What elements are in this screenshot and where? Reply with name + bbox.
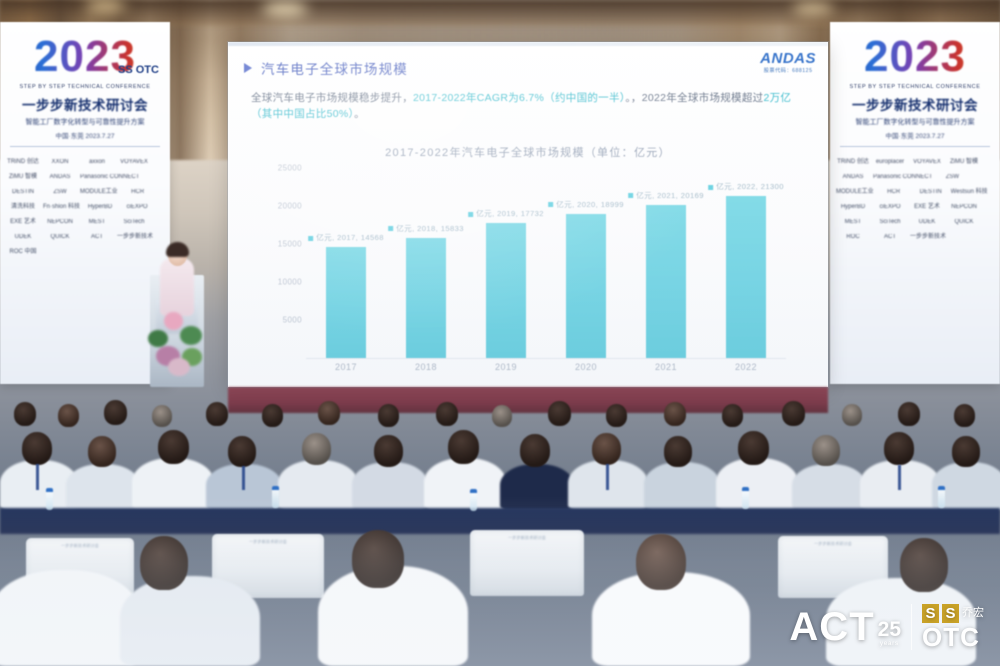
water-bottle	[742, 487, 749, 509]
banner-left-ss-otc-mark: SS OTC	[118, 64, 159, 76]
audience-head	[664, 436, 692, 467]
act-logo: ACT 25 years	[789, 607, 901, 647]
ceiling-light-1	[262, 2, 308, 16]
banner-right-year: 2023	[830, 32, 1000, 82]
audience-head	[952, 436, 980, 467]
sponsor-logo: ciEXPO	[120, 201, 154, 214]
audience-head	[436, 402, 458, 426]
bar-data-label: 亿元, 2018, 15833	[388, 224, 464, 234]
audience-head	[374, 435, 403, 467]
ss-box-left: S	[922, 604, 939, 623]
legend-square-icon	[548, 202, 553, 207]
bottle-cap	[938, 486, 945, 490]
watermark: ACT 25 years S S 乔宏 OTC	[789, 604, 984, 650]
audience-head	[448, 430, 479, 464]
bar-2017	[326, 247, 366, 358]
bar-label-text: 亿元, 2021, 20169	[636, 191, 704, 200]
audience-shoulders	[716, 458, 798, 510]
chair-back: 一步步新技术研讨会	[470, 530, 584, 596]
bar-2018	[406, 238, 446, 358]
sponsor-logo: HyperBD	[836, 201, 870, 214]
bar-2021	[646, 205, 686, 358]
bar-column: 亿元, 2018, 15833	[406, 168, 446, 358]
sponsor-logo: TRiND 创达	[836, 156, 870, 169]
x-tick-label: 2017	[326, 362, 366, 372]
sponsor-logo: TRiND 创达	[6, 156, 40, 169]
banner-left-title-cn: 一步步新技术研讨会	[0, 94, 170, 114]
sponsor-logo: Panasonic CONNECT	[80, 171, 139, 184]
x-tick-label: 2020	[566, 362, 606, 372]
water-bottle	[470, 489, 477, 511]
x-tick-label: 2018	[406, 362, 446, 372]
slide-heading-row: 汽车电子全球市场规模	[244, 58, 408, 78]
bar-column: 亿元, 2020, 18999	[566, 168, 606, 358]
presentation-slide: 汽车电子全球市场规模 ANDAS 股票代码：688125 全球汽车电子市场规模稳…	[228, 42, 828, 387]
bar-label-text: 亿元, 2017, 14568	[316, 233, 384, 242]
audience-head	[228, 436, 256, 467]
ss-otc-logo: S S 乔宏 OTC	[922, 604, 984, 650]
otc-wordmark: OTC	[922, 624, 980, 650]
chair-back-print: 一步步新技术研讨会	[778, 541, 888, 547]
audience-head	[104, 400, 127, 425]
bottle-cap	[470, 489, 477, 493]
legend-square-icon	[708, 185, 713, 190]
chart-title: 2017-2022年汽车电子全球市场规模（单位：亿元）	[228, 144, 828, 160]
ceiling-light-2	[86, 0, 126, 12]
brand-name: ANDAS	[760, 51, 816, 66]
audience-head	[206, 402, 228, 426]
audience-shoulders	[278, 460, 358, 510]
brand-stock-code: 股票代码：688125	[760, 69, 816, 74]
slide-top-rule	[228, 42, 828, 46]
bar-column: 亿元, 2017, 14568	[326, 168, 366, 358]
sponsor-logo: Westsun 科技	[951, 186, 988, 199]
sponsor-logo: HyperBD	[83, 201, 117, 214]
sponsor-logo: VOYAVEX	[910, 156, 944, 169]
ceiling-light-3	[792, 2, 834, 15]
banner-right-title-cn: 一步步新技术研讨会	[830, 94, 1000, 114]
audience-head	[318, 401, 340, 425]
paragraph-seg-highlight: 2017-2022年CAGR为6.7%（约中国的一半）	[413, 92, 625, 104]
sponsor-logo: DESTIN	[914, 186, 948, 199]
flower-petal	[168, 358, 190, 376]
audience-head	[14, 402, 36, 426]
paragraph-seg: 全球汽车电子市场规模稳步提升，	[251, 92, 413, 104]
sponsor-logo: ROC	[836, 231, 870, 244]
lanyard	[242, 466, 245, 490]
audience-head	[898, 402, 920, 426]
bar-column: 亿元, 2021, 20169	[646, 168, 686, 358]
speaker-hair	[166, 242, 189, 257]
audience-head	[812, 435, 840, 466]
bar-2019	[486, 223, 526, 358]
audience-head	[782, 401, 805, 426]
audience-head	[140, 536, 188, 590]
sponsor-logo: HCR	[121, 186, 155, 199]
chair-back-print: 一步步新技术研讨会	[212, 539, 324, 545]
bottle-cap	[46, 488, 53, 492]
legend-square-icon	[628, 193, 633, 198]
legend-square-icon	[468, 212, 473, 217]
projection-screen: 汽车电子全球市场规模 ANDAS 股票代码：688125 全球汽车电子市场规模稳…	[228, 42, 828, 387]
sponsor-logo: MEST	[836, 216, 870, 229]
paragraph-seg: 。	[354, 108, 365, 120]
audience-shoulders	[120, 576, 260, 666]
bar-label-text: 亿元, 2018, 15833	[396, 224, 464, 233]
flower-petal	[164, 312, 183, 330]
sponsor-logo: SciTech	[117, 216, 151, 229]
y-tick-label: 25000	[278, 164, 302, 173]
audience-head	[842, 404, 862, 426]
bar-data-label: 亿元, 2022, 21300	[708, 182, 784, 192]
sponsor-logo: MODULE工业	[836, 186, 874, 199]
audience-shoulders	[352, 462, 428, 510]
y-tick-label: 10000	[278, 278, 302, 287]
sponsor-logo: VOYAVEX	[117, 156, 151, 169]
audience-shoulders	[644, 462, 720, 510]
triangle-bullet-icon	[244, 63, 252, 73]
lanyard	[36, 464, 39, 490]
audience-shoulders	[792, 464, 866, 510]
sponsor-logo: axxon	[80, 156, 114, 169]
flower-petal	[180, 326, 202, 345]
sponsor-logo: ACT	[80, 231, 114, 244]
andas-brand-logo: ANDAS 股票代码：688125	[760, 51, 816, 74]
legend-square-icon	[388, 226, 393, 231]
water-bottle	[272, 486, 279, 508]
sponsor-logo: UDEK	[910, 216, 944, 229]
paragraph-seg: 。，2022年全球市场规模超过	[625, 92, 763, 104]
sponsor-logo: SciTech	[873, 216, 907, 229]
bar-data-label: 亿元, 2020, 18999	[548, 200, 624, 210]
banner-left-meta: 中国·东莞 2023.7.27	[0, 130, 170, 140]
sponsor-logo: NEPCON	[947, 201, 981, 214]
sponsor-logo: ANDAS	[43, 171, 77, 184]
audience-head	[592, 433, 621, 465]
bottle-cap	[272, 486, 279, 490]
lanyard	[898, 465, 901, 490]
act-wordmark: ACT	[789, 607, 874, 647]
audience-shoulders	[424, 458, 506, 510]
sponsor-logo: EXE 艺术	[6, 216, 40, 229]
lanyard	[606, 464, 609, 490]
banner-left-divider	[10, 146, 160, 147]
chart-x-axis: 2017 2018 2019 2020 2021 2022	[306, 362, 786, 372]
sponsor-logo: europlacer	[873, 156, 907, 169]
audience-shoulders	[500, 464, 574, 510]
bar-data-label: 亿元, 2019, 17732	[468, 209, 544, 219]
banner-left-title-cn2: 智能工厂数字化转型与可靠性提升方案	[0, 117, 170, 127]
audience-row-mid	[0, 424, 1000, 510]
audience-shoulders	[0, 570, 140, 666]
sponsor-logo: ANDAS	[836, 171, 870, 184]
sponsor-logo: 一步步新技术	[117, 231, 153, 244]
act-anniversary-number: 25	[878, 619, 901, 640]
audience-head	[22, 432, 52, 465]
audience-shoulders	[66, 464, 140, 510]
x-tick-label: 2022	[726, 362, 766, 372]
sponsor-logo: NEPCON	[43, 216, 77, 229]
sponsor-logo: ACT	[873, 231, 907, 244]
sponsor-logo: QUICK	[947, 216, 981, 229]
y-tick-label: 20000	[278, 202, 302, 211]
banner-right-subtitle-en: STEP BY STEP TECHNICAL CONFERENCE	[830, 84, 1000, 90]
ss-row: S S 乔宏	[922, 604, 984, 623]
banner-left-sponsor-grid: TRiND 创达 XXON axxon VOYAVEX ZiMU 智模 ANDA…	[0, 153, 170, 262]
sponsor-logo: EXE 艺术	[910, 201, 944, 214]
sponsor-logo: DESTIN	[6, 186, 40, 199]
sponsor-logo: XXON	[43, 156, 77, 169]
bar-2020	[566, 214, 606, 358]
audience-head	[302, 433, 331, 465]
sponsor-logo: ZSW	[935, 171, 969, 184]
y-tick-label: 5000	[283, 316, 302, 325]
audience-head	[884, 432, 914, 465]
sponsor-logo: Panasonic CONNECT	[873, 171, 932, 184]
legend-square-icon	[308, 236, 313, 241]
audience-head	[88, 436, 116, 467]
sponsor-logo: ZSW	[43, 186, 77, 199]
water-bottle	[46, 488, 53, 510]
sponsor-logo: ciEXPO	[873, 201, 907, 214]
banner-left-subtitle-en: STEP BY STEP TECHNICAL CONFERENCE	[0, 84, 170, 90]
bar-2022	[726, 196, 766, 358]
banner-right-divider	[840, 146, 990, 147]
bar-chart-plot-area: 25000 20000 15000 10000 5000 亿元, 2017, 1…	[306, 168, 786, 358]
sponsor-logo: MEST	[80, 216, 114, 229]
sponsor-logo: MODULE工业	[80, 186, 118, 199]
x-tick-label: 2021	[646, 362, 686, 372]
sponsor-logo: HCR	[877, 186, 911, 199]
chair-back-print: 一步步新技术研讨会	[26, 543, 134, 549]
sponsor-logo: Fn·shion 科技	[43, 201, 80, 214]
banner-right-meta: 中国·东莞 2023.7.27	[830, 130, 1000, 140]
ss-box-right: S	[942, 604, 959, 623]
watermark-divider	[911, 604, 912, 650]
audience-head	[664, 402, 686, 426]
banner-right: 2023 STEP BY STEP TECHNICAL CONFERENCE 一…	[830, 22, 1000, 384]
audience-head	[520, 434, 550, 467]
flower-petal	[148, 330, 168, 347]
audience-shoulders	[132, 458, 214, 510]
bar-data-label: 亿元, 2021, 20169	[628, 191, 704, 201]
sponsor-logo: 一步步新技术	[910, 231, 946, 244]
bottle-cap	[742, 487, 749, 491]
conference-photo-scene: 2023 STEP BY STEP TECHNICAL CONFERENCE 一…	[0, 0, 1000, 666]
act-years-label: years	[880, 640, 899, 647]
sponsor-logo: QUICK	[43, 231, 77, 244]
water-bottle	[938, 486, 945, 508]
chair-back-print: 一步步新技术研讨会	[470, 535, 584, 541]
audience-head	[158, 430, 189, 464]
bar-series: 亿元, 2017, 14568 亿元, 2018, 15833 亿元, 2019…	[306, 168, 786, 358]
sponsor-logo: 清洗科技	[6, 201, 40, 214]
slide-paragraph: 全球汽车电子市场规模稳步提升，2017-2022年CAGR为6.7%（约中国的一…	[251, 90, 811, 122]
bar-label-text: 亿元, 2020, 18999	[556, 200, 624, 209]
slide-title: 汽车电子全球市场规模	[261, 58, 408, 78]
chart-x-axis-line	[306, 358, 786, 359]
bar-label-text: 亿元, 2019, 17732	[476, 209, 544, 218]
audience-head	[738, 431, 769, 465]
bar-data-label: 亿元, 2017, 14568	[308, 233, 384, 243]
sponsor-logo: ROC 中国	[6, 246, 40, 259]
sponsor-logo: UDEK	[6, 231, 40, 244]
bar-column: 亿元, 2022, 21300	[726, 168, 766, 358]
sponsor-logo: ZiMU 智模	[947, 156, 981, 169]
x-tick-label: 2019	[486, 362, 526, 372]
audience-head	[636, 534, 686, 590]
ss-chinese-label: 乔宏	[962, 608, 984, 619]
sponsor-logo: ZiMU 智模	[6, 171, 40, 184]
y-tick-label: 15000	[278, 240, 302, 249]
audience-head	[548, 401, 571, 426]
bar-column: 亿元, 2019, 17732	[486, 168, 526, 358]
bar-label-text: 亿元, 2022, 21300	[716, 182, 784, 191]
audience-head	[900, 538, 948, 592]
banner-right-sponsor-grid: TRiND 创达 europlacer VOYAVEX ZiMU 智模 ANDA…	[830, 153, 1000, 247]
stage-flower-arrangement	[142, 300, 218, 380]
banner-right-title-cn2: 智能工厂数字化转型与可靠性提升方案	[830, 117, 1000, 127]
audience-head	[352, 530, 404, 588]
chart-y-axis: 25000 20000 15000 10000 5000	[260, 168, 302, 358]
